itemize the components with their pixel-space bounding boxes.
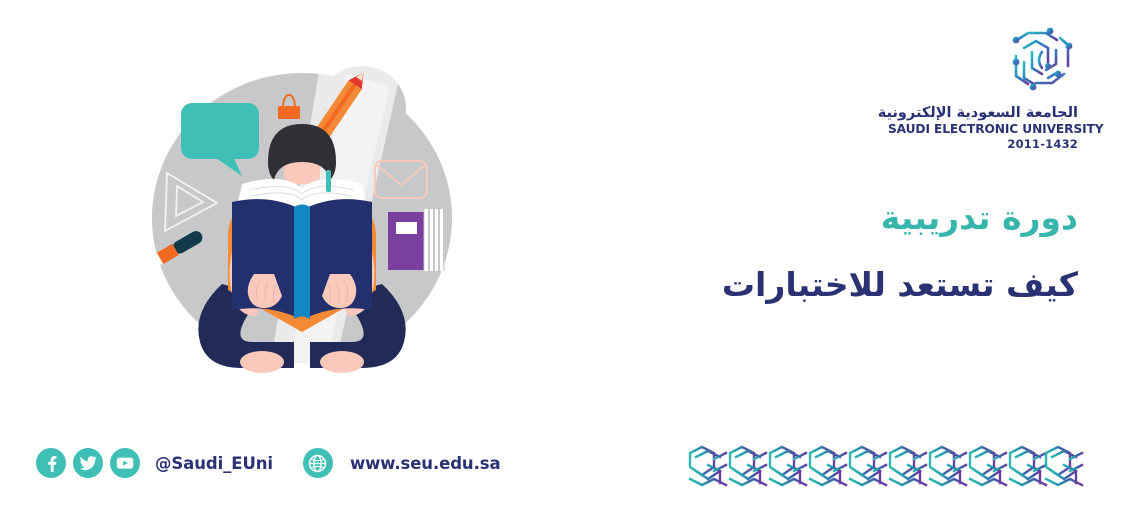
headline-block: دورة تدريبية كيف تستعد للاختبارات — [438, 196, 1078, 307]
university-name-en: SAUDI ELECTRONIC UNIVERSITY — [888, 122, 1078, 137]
social-handle: @Saudi_EUni — [155, 454, 273, 473]
website-link[interactable] — [303, 448, 333, 478]
globe-icon — [308, 454, 327, 473]
banner-root: الجامعة السعودية الإلكترونية SAUDI ELECT… — [0, 0, 1125, 507]
seu-hexagon-circuit-logo — [1002, 22, 1078, 100]
purple-notebook — [388, 209, 444, 271]
student-reading-book-illustration — [150, 66, 470, 396]
headline-kicker: دورة تدريبية — [438, 196, 1078, 241]
seu-logo-block: الجامعة السعودية الإلكترونية SAUDI ELECT… — [888, 22, 1078, 152]
circuit-board-pattern — [688, 445, 1084, 493]
university-founding-year: 2011-1432 — [888, 137, 1078, 152]
facebook-icon — [43, 455, 60, 472]
facebook-link[interactable] — [36, 448, 66, 478]
page-title: كيف تستعد للاختبارات — [438, 263, 1078, 308]
youtube-link[interactable] — [110, 448, 140, 478]
university-name-ar: الجامعة السعودية الإلكترونية — [888, 104, 1078, 122]
twitter-icon — [79, 456, 97, 471]
twitter-link[interactable] — [73, 448, 103, 478]
footer-contact-bar: @Saudi_EUni www.seu.edu.sa — [36, 448, 501, 478]
website-url: www.seu.edu.sa — [350, 454, 501, 473]
youtube-icon — [116, 456, 134, 470]
